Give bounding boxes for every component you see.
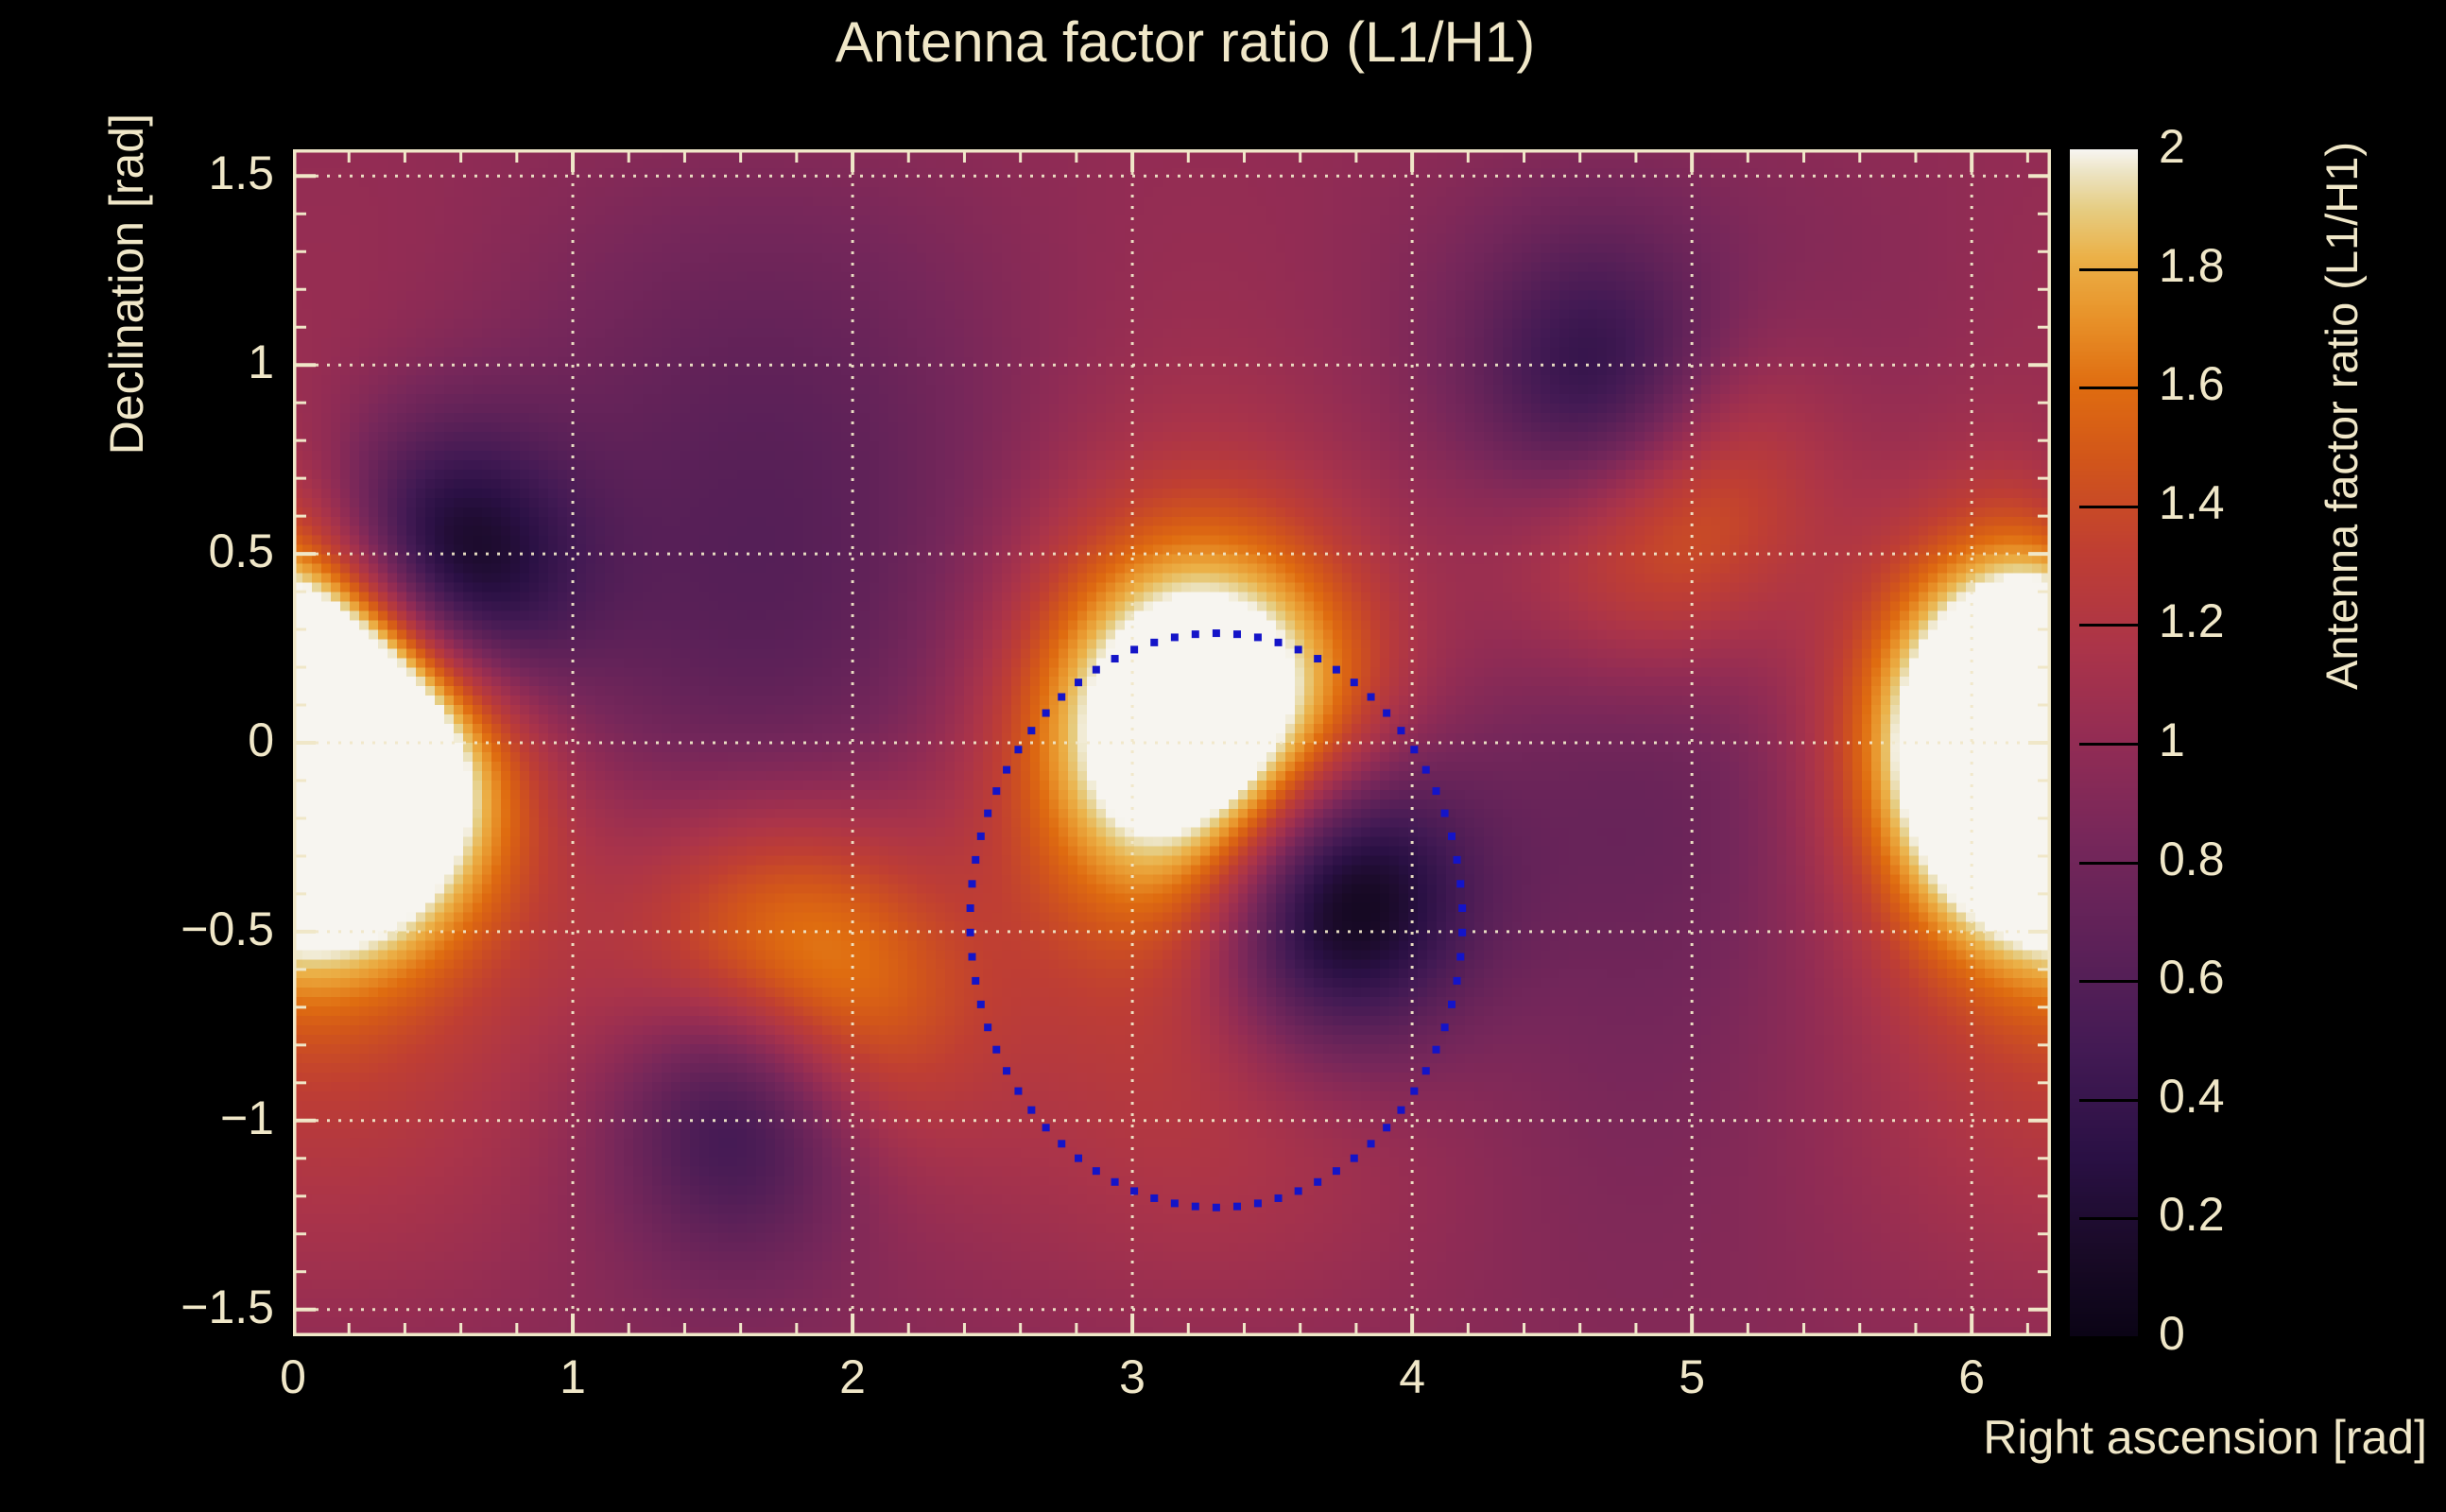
- z-tick-mark: [2079, 506, 2138, 508]
- z-tick-label: 2: [2159, 119, 2185, 174]
- z-tick-label: 0.4: [2159, 1069, 2225, 1124]
- z-tick-mark: [2079, 1099, 2138, 1102]
- y-tick-label: −1: [142, 1091, 274, 1145]
- root-canvas: Antenna factor ratio (L1/H1) Declination…: [0, 0, 2446, 1512]
- page-title: Antenna factor ratio (L1/H1): [0, 9, 2408, 75]
- z-tick-mark: [2079, 1217, 2138, 1220]
- z-tick-mark: [2079, 624, 2138, 627]
- z-tick-mark: [2079, 743, 2138, 746]
- x-tick-label: 0: [236, 1349, 350, 1404]
- heatmap-plot-area[interactable]: [293, 149, 2051, 1336]
- plot-overlay: [293, 149, 2051, 1336]
- z-tick-label: 1: [2159, 713, 2185, 767]
- z-axis-title: Antenna factor ratio (L1/H1): [2316, 142, 2368, 690]
- y-tick-label: 1.5: [142, 146, 274, 200]
- y-tick-label: 1: [142, 335, 274, 389]
- x-tick-label: 6: [1915, 1349, 2028, 1404]
- y-tick-label: −0.5: [142, 902, 274, 956]
- z-tick-mark: [2079, 387, 2138, 389]
- z-tick-label: 1.6: [2159, 356, 2225, 411]
- x-tick-label: 2: [796, 1349, 909, 1404]
- z-tick-label: 0: [2159, 1306, 2185, 1361]
- z-tick-label: 0.2: [2159, 1187, 2225, 1242]
- x-tick-label: 5: [1635, 1349, 1748, 1404]
- x-tick-label: 4: [1355, 1349, 1469, 1404]
- z-tick-label: 1.4: [2159, 475, 2225, 530]
- y-tick-label: 0.5: [142, 524, 274, 578]
- y-tick-label: −1.5: [142, 1280, 274, 1334]
- y-tick-label: 0: [142, 713, 274, 767]
- z-tick-label: 0.6: [2159, 950, 2225, 1005]
- x-tick-label: 3: [1076, 1349, 1189, 1404]
- z-tick-label: 1.8: [2159, 238, 2225, 293]
- x-axis-title: Right ascension [rad]: [1983, 1410, 2427, 1465]
- x-tick-label: 1: [516, 1349, 629, 1404]
- z-tick-mark: [2079, 862, 2138, 865]
- z-tick-label: 0.8: [2159, 832, 2225, 886]
- z-tick-mark: [2079, 268, 2138, 271]
- z-tick-label: 1.2: [2159, 593, 2225, 648]
- z-tick-mark: [2079, 980, 2138, 983]
